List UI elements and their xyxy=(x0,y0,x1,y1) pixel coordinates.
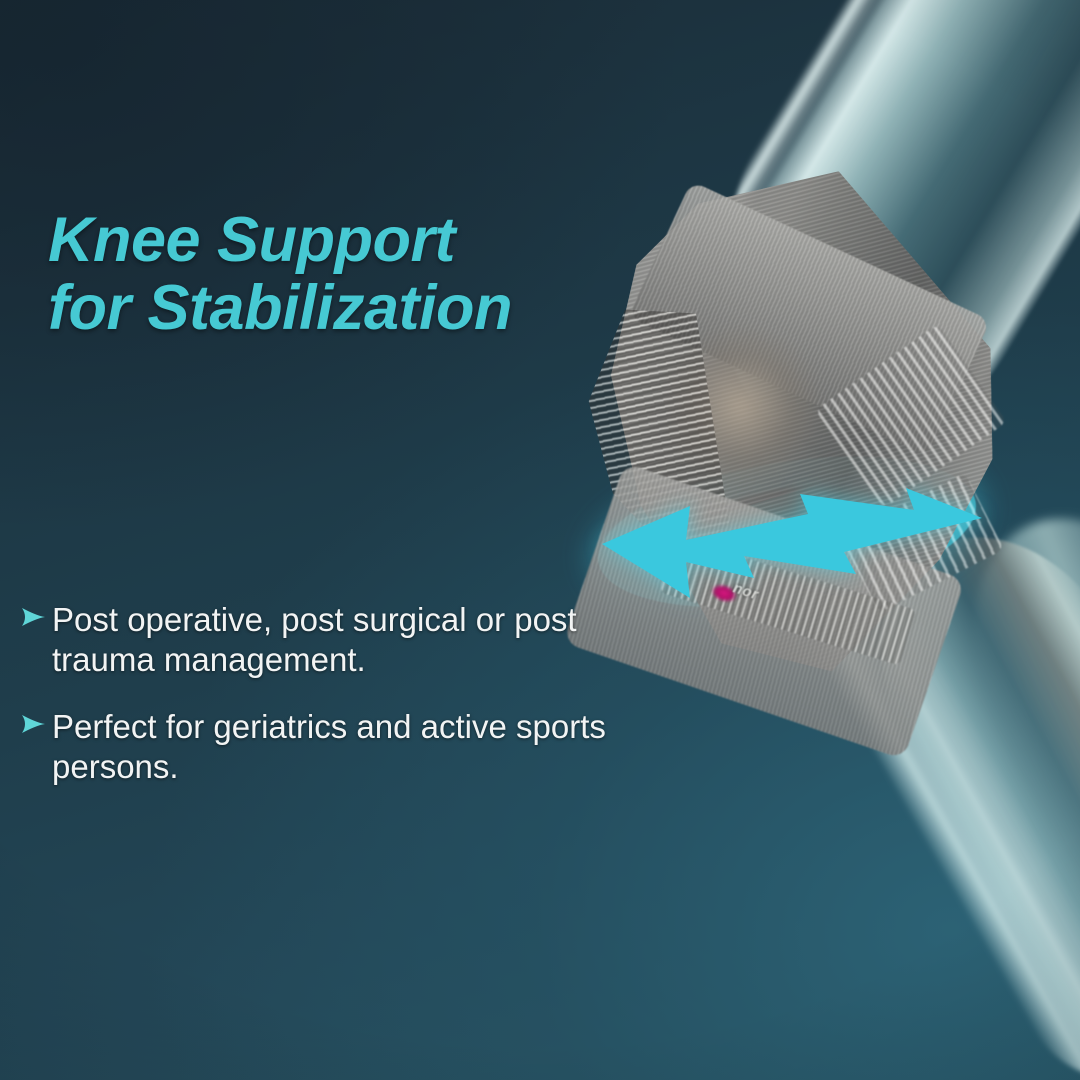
knee-brace-illustration: nor xyxy=(0,0,1080,1080)
arrow-bullet-icon xyxy=(18,709,48,749)
feature-list: Post operative, post surgical or post tr… xyxy=(18,600,628,813)
list-item: Perfect for geriatrics and active sports… xyxy=(18,707,628,788)
product-banner: nor Knee Support for Stabilization Post … xyxy=(0,0,1080,1080)
headline-line-1: Knee Support xyxy=(48,205,455,275)
list-item-label: Perfect for geriatrics and active sports… xyxy=(52,707,628,788)
page-title: Knee Support for Stabilization xyxy=(48,206,512,342)
list-item: Post operative, post surgical or post tr… xyxy=(18,600,628,681)
list-item-label: Post operative, post surgical or post tr… xyxy=(52,600,628,681)
headline-line-2: for Stabilization xyxy=(48,274,512,342)
arrow-bullet-icon xyxy=(18,602,48,642)
rotation-arrow-icon xyxy=(594,470,984,630)
